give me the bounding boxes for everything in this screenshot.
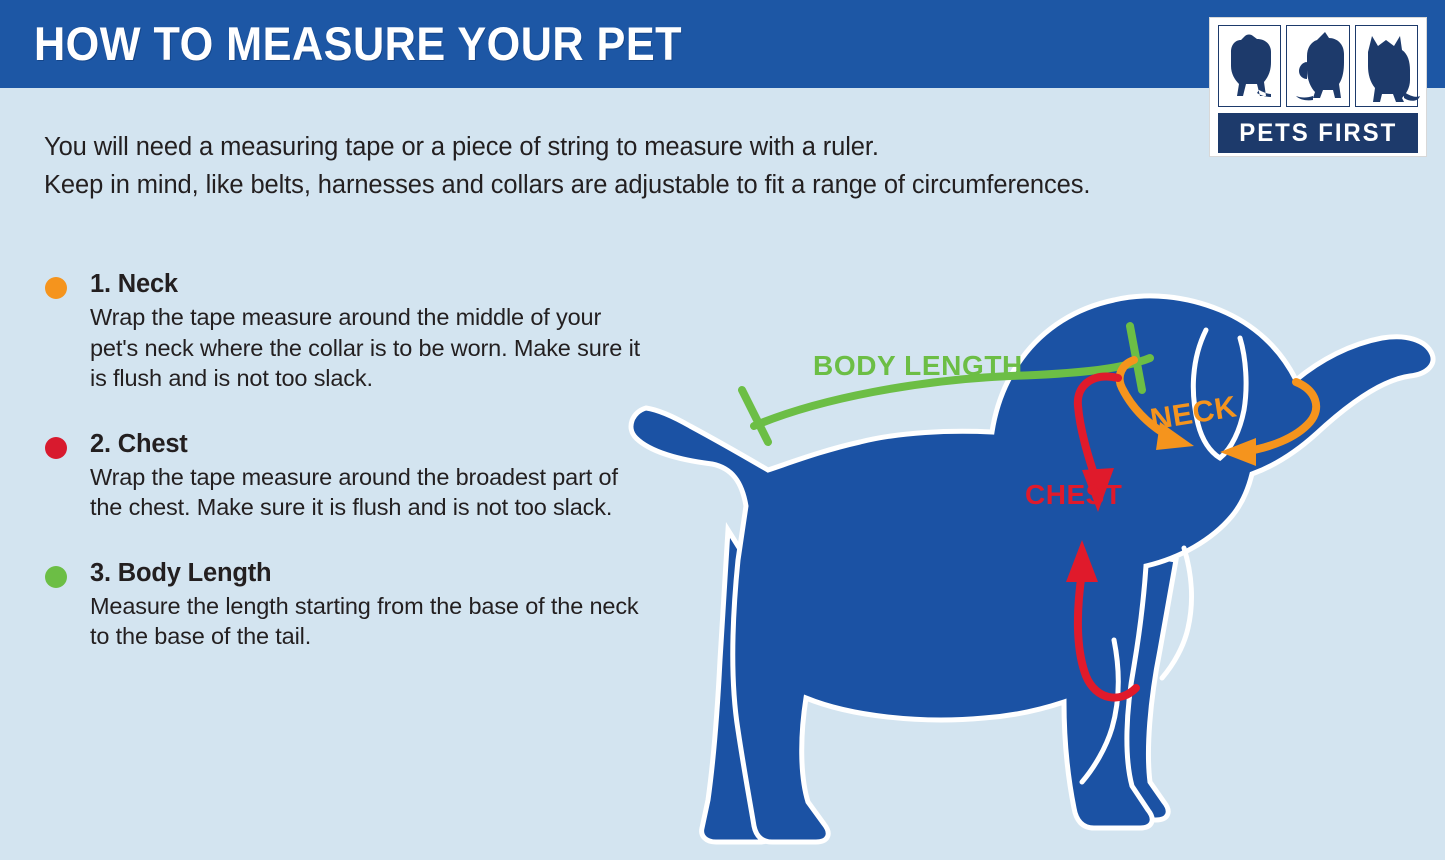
- page-title: HOW TO MEASURE YOUR PET: [34, 18, 682, 70]
- dog-measurement-diagram: [620, 230, 1445, 860]
- logo-name-bar: PETS FIRST: [1218, 113, 1418, 153]
- step-title-chest: 2. Chest: [90, 428, 644, 460]
- alert-dog-icon: [1355, 25, 1418, 107]
- pets-first-logo: PETS FIRST: [1209, 17, 1427, 157]
- bullet-icon-neck: [45, 277, 67, 299]
- infographic-page: HOW TO MEASURE YOUR PET PETS FIRST: [0, 0, 1445, 860]
- label-chest: CHEST: [1025, 479, 1122, 511]
- howling-dog-icon: [1286, 25, 1349, 107]
- logo-name: PETS FIRST: [1239, 119, 1397, 148]
- intro-line-2: Keep in mind, like belts, harnesses and …: [44, 166, 1204, 204]
- intro-line-1: You will need a measuring tape or a piec…: [44, 128, 1204, 166]
- list-item: 2. Chest Wrap the tape measure around th…: [44, 428, 644, 523]
- list-item: 1. Neck Wrap the tape measure around the…: [44, 268, 644, 394]
- step-title-neck: 1. Neck: [90, 268, 644, 300]
- logo-dog-panels: [1218, 25, 1418, 107]
- sitting-dog-icon: [1218, 25, 1281, 107]
- step-body-neck: Wrap the tape measure around the middle …: [90, 302, 644, 394]
- bullet-icon-body-length: [45, 566, 67, 588]
- bullet-icon-chest: [45, 437, 67, 459]
- measurement-steps-list: 1. Neck Wrap the tape measure around the…: [44, 268, 644, 686]
- step-body-chest: Wrap the tape measure around the broades…: [90, 462, 644, 523]
- list-item: 3. Body Length Measure the length starti…: [44, 557, 644, 652]
- step-body-body-length: Measure the length starting from the bas…: [90, 591, 644, 652]
- label-body-length: BODY LENGTH: [813, 350, 1023, 382]
- intro-text: You will need a measuring tape or a piec…: [44, 128, 1204, 204]
- step-title-body-length: 3. Body Length: [90, 557, 644, 589]
